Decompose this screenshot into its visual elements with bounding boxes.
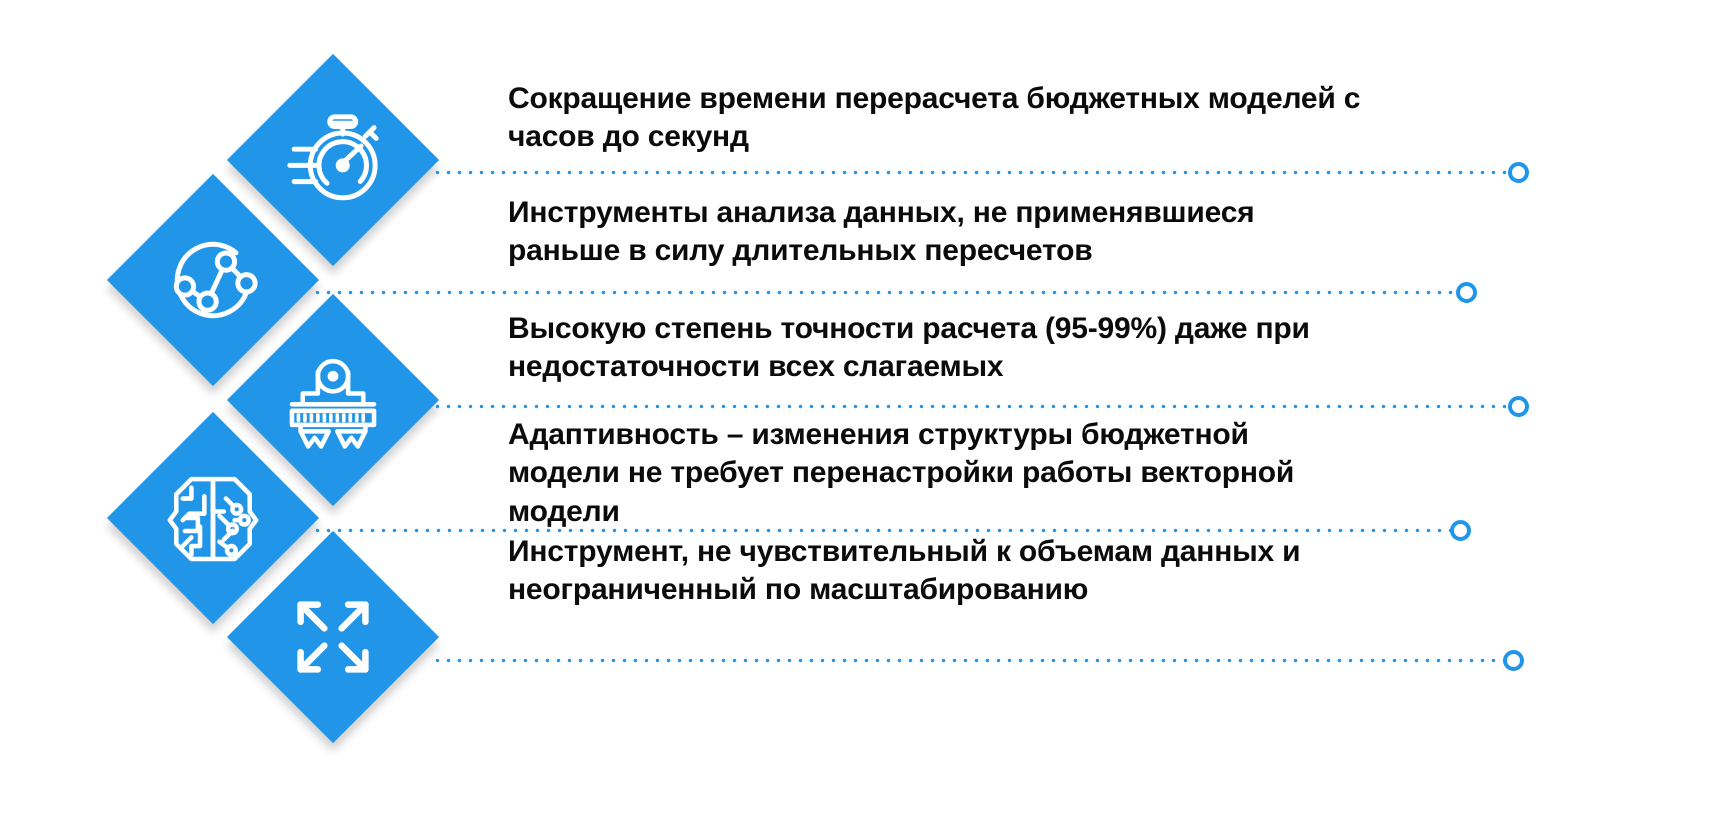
connector-line-1 [432, 170, 1514, 175]
item-text-5-line-2: неограниченный по масштабированию [508, 571, 1300, 609]
item-text-2-line-1: Инструменты анализа данных, не применявш… [508, 194, 1255, 232]
item-text-4: Адаптивность – изменения структуры бюдже… [508, 416, 1294, 531]
expand-arrows-icon [279, 583, 387, 691]
connector-endpoint-4[interactable] [1450, 520, 1471, 541]
connector-endpoint-2[interactable] [1456, 282, 1477, 303]
item-text-2-line-2: раньше в силу длительных пересчетов [508, 232, 1255, 270]
item-text-5: Инструмент, не чувствительный к объемам … [508, 533, 1300, 610]
connector-endpoint-3[interactable] [1508, 396, 1529, 417]
item-text-1-line-1: Сокращение времени перерасчета бюджетных… [508, 80, 1360, 118]
item-text-1: Сокращение времени перерасчета бюджетных… [508, 80, 1360, 157]
item-text-3-line-2: недостаточности всех слагаемых [508, 348, 1310, 386]
connector-endpoint-5[interactable] [1503, 650, 1524, 671]
connector-line-3 [432, 404, 1508, 409]
connector-line-5 [432, 658, 1504, 663]
item-text-1-line-2: часов до секунд [508, 118, 1360, 156]
item-text-3: Высокую степень точности расчета (95-99%… [508, 310, 1310, 387]
connector-line-2 [312, 290, 1462, 295]
connector-endpoint-1[interactable] [1508, 162, 1529, 183]
item-text-4-line-3: модели [508, 493, 1294, 531]
stopwatch-speed-icon [279, 106, 387, 214]
item-text-2: Инструменты анализа данных, не применявш… [508, 194, 1255, 271]
item-text-4-line-2: модели не требует перенастройки работы в… [508, 454, 1294, 492]
caliper-precision-icon [279, 346, 387, 454]
network-graph-icon [159, 226, 267, 334]
ai-brain-circuit-icon [159, 464, 267, 572]
item-text-3-line-1: Высокую степень точности расчета (95-99%… [508, 310, 1310, 348]
diamond-icon-wrap-5 [258, 562, 408, 712]
item-text-5-line-1: Инструмент, не чувствительный к объемам … [508, 533, 1300, 571]
item-text-4-line-1: Адаптивность – изменения структуры бюдже… [508, 416, 1294, 454]
diamond-tile-5[interactable] [227, 531, 439, 743]
infographic-canvas: Сокращение времени перерасчета бюджетных… [0, 0, 1709, 826]
